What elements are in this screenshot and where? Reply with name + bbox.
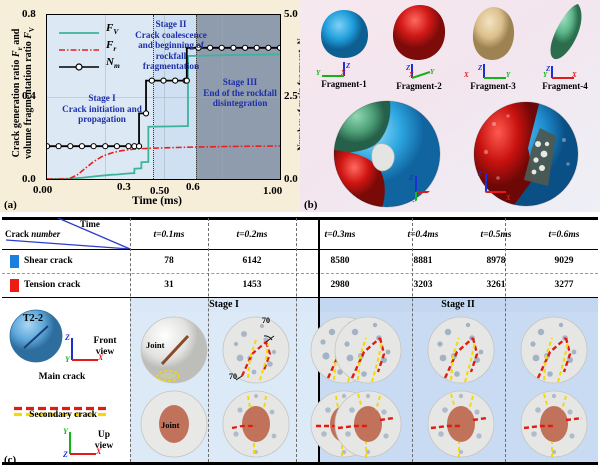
fragment-2: Z Y X Fragment-2 [382,4,456,91]
legend-swatch-Fv [59,25,99,35]
col-sep-5 [505,218,506,462]
series-Nm-marker [208,45,213,50]
corner-time-label: Time [80,219,100,229]
col-header-t03: t=0.3ms [296,230,384,240]
fragment-2-label: Fragment-2 [382,81,456,91]
fragment-1-label: Fragment-1 [308,79,380,89]
fragment-1-axes: Z Y X [308,60,380,78]
up-view-t02 [222,388,290,465]
panel-c-table: Time Crack number t=0.1ms t=0.2ms t=0.3m… [0,212,600,468]
series-Nm-marker [266,45,271,50]
up-view-t06 [520,388,588,465]
joint-label-front: Joint [146,340,164,350]
stage-2-note: Stage IICrack coalescence and beginning … [135,19,207,72]
cell-shear-t01: 78 [130,256,208,266]
joint-label-up: Joint [161,420,179,430]
front-view-t05 [427,314,495,391]
series-Nm-marker [254,45,259,50]
series-Nm-marker [91,144,96,149]
sample-id-label: T2-2 [23,313,43,324]
fragment-2-axes: Z Y X [382,62,456,80]
svg-text:X: X [463,71,469,79]
legend-label-Fr: Fr [106,39,116,53]
cell-tension-t06: 3277 [530,280,598,290]
ytick-0.8: 0.8 [22,8,36,20]
cell-shear-t03: 8580 [296,256,384,266]
panel-a-tag: (a) [4,199,17,211]
legend-swatch-Fr [59,42,99,52]
series-F_r [47,146,280,179]
series-Nm-marker [79,144,84,149]
fragment-4-label: Fragment-4 [530,81,600,91]
fragment-3-shape [470,6,516,62]
panel-b-fragments: Z Y X Fragment-1 Z [300,0,600,212]
chart-legend: FV Fr Nm [59,21,145,72]
cell-shear-t02: 6142 [208,256,296,266]
svg-text:X: X [571,71,577,79]
svg-text:Y: Y [470,196,475,204]
panel-b-tag: (b) [304,199,317,211]
cell-tension-t02: 1453 [208,280,296,290]
svg-text:Y: Y [316,69,321,77]
svg-text:X: X [340,69,346,77]
series-Nm-marker [68,144,73,149]
table-header-rule [2,249,598,250]
series-Nm-marker [242,45,247,50]
row-label-tension: Tension crack [24,280,80,290]
up-view-t05 [427,388,495,465]
fragment-4-axes: Z Y X [530,62,600,80]
svg-text:Y: Y [430,68,435,76]
series-Nm-marker [126,144,131,149]
shear-crack-swatch [10,255,19,268]
col-sep-main [130,218,131,462]
fragment-1: Z Y X Fragment-1 [308,8,380,89]
main-crack-label: Main crack [22,372,102,383]
stage-1-note: Stage ICrack initiation and propagation [57,93,147,125]
front-view-t01 [140,314,208,391]
stage-bar-2: Stage II [318,298,598,312]
corner-crack-label: Crack number [5,229,60,239]
svg-text:Z: Z [345,62,351,70]
table-bottom-rule [2,462,598,465]
legend-label-Nm: Nm [106,56,120,70]
legend-item-Fv: FV [59,21,145,38]
series-Nm-marker [103,144,108,149]
front-view-t06 [520,314,588,391]
svg-text:Z: Z [477,170,483,178]
plot-area: FV Fr Nm [46,14,281,180]
up-view-label: Upview [84,430,124,452]
col-header-t01: t=0.1ms [130,230,208,240]
angle-label-top: 70 [262,316,270,325]
row-label-shear: Shear crack [24,256,73,266]
svg-text:Z: Z [62,450,68,459]
ytick2-2.5: 2.5 [284,90,298,102]
cell-tension-t05: 3261 [462,280,530,290]
panel-c-tag: (c) [4,454,16,466]
fragment-3: Z Y X Fragment-3 [458,6,528,91]
front-view-t04 [334,314,402,391]
fragment-2-shape [390,4,448,62]
svg-text:Y: Y [412,200,417,208]
fragment-4-shape [544,2,586,62]
svg-text:Z: Z [408,174,414,182]
table-row-dash [2,273,598,274]
xtick-0.00: 0.00 [33,184,52,196]
svg-text:X: X [435,184,441,192]
col-sep-1 [208,218,209,462]
svg-text:Y: Y [543,71,548,79]
col-header-t05: t=0.5ms [462,230,530,240]
angle-label-bottom: 70 [229,372,237,381]
svg-text:Y: Y [506,71,511,79]
stage-3-note: Stage IIIEnd of the rockfall disintegrat… [203,77,277,109]
col-header-t04: t=0.4ms [384,230,462,240]
legend-item-Nm: Nm [59,55,145,72]
fragment-3-axes: Z Y X [458,62,528,80]
cell-tension-t01: 31 [130,280,208,290]
series-Nm-marker [47,144,50,149]
legend-swatch-Nm [59,59,99,69]
fragment-3-label: Fragment-3 [458,81,528,91]
fragment-4: Z Y X Fragment-4 [530,2,600,91]
svg-text:Y: Y [65,355,71,364]
svg-text:Z: Z [477,64,483,72]
cell-tension-t04: 3203 [384,280,462,290]
xtick-0.3: 0.3 [117,181,131,193]
series-Nm-marker [173,78,178,83]
col-sep-4 [412,218,413,462]
assembled-sphere-cutaway: Z X Y [468,100,584,208]
series-Nm-marker [184,78,189,83]
x-axis-label: Time (ms) [132,195,182,207]
front-view-label: Frontview [84,336,126,358]
series-Nm-marker [114,144,119,149]
series-Nm-marker [219,45,224,50]
ytick2-5.0: 5.0 [284,8,298,20]
stage-bar-1: Stage I [130,298,318,312]
tension-crack-swatch [10,279,19,292]
series-Nm-marker [277,45,280,50]
secondary-crack-label: Secondary crack [18,410,108,421]
panel-a-chart: Crack generation ratio Fr and volume fra… [0,0,300,212]
svg-text:Z: Z [64,333,70,342]
xtick-1.00: 1.00 [263,185,282,197]
series-Nm-marker [56,144,61,149]
col-sep-2 [296,218,297,462]
cell-shear-t04: 8881 [384,256,462,266]
xtick-0.6: 0.6 [186,181,200,193]
legend-item-Fr: Fr [59,38,145,55]
series-Nm-marker [161,78,166,83]
legend-label-Fv: FV [106,22,118,36]
figure-root: Crack generation ratio Fr and volume fra… [0,0,600,468]
series-Nm-marker [231,45,236,50]
assembled-sphere-surface: Z X Y [328,100,446,208]
svg-text:X: X [505,194,511,202]
cell-shear-t06: 9029 [530,256,598,266]
series-Nm-marker [149,78,154,83]
svg-text:X: X [408,71,414,79]
cell-shear-t05: 8978 [462,256,530,266]
ytick2-0.0: 0.0 [284,173,298,185]
series-Nm-marker [136,144,141,149]
col-header-t02: t=0.2ms [208,230,296,240]
svg-text:Y: Y [63,427,69,436]
col-header-t06: t=0.6ms [530,230,598,240]
fragment-1-shape [318,8,370,60]
ytick-0.4: 0.4 [22,90,36,102]
cell-tension-t03: 2980 [296,280,384,290]
up-view-t04 [334,388,402,465]
